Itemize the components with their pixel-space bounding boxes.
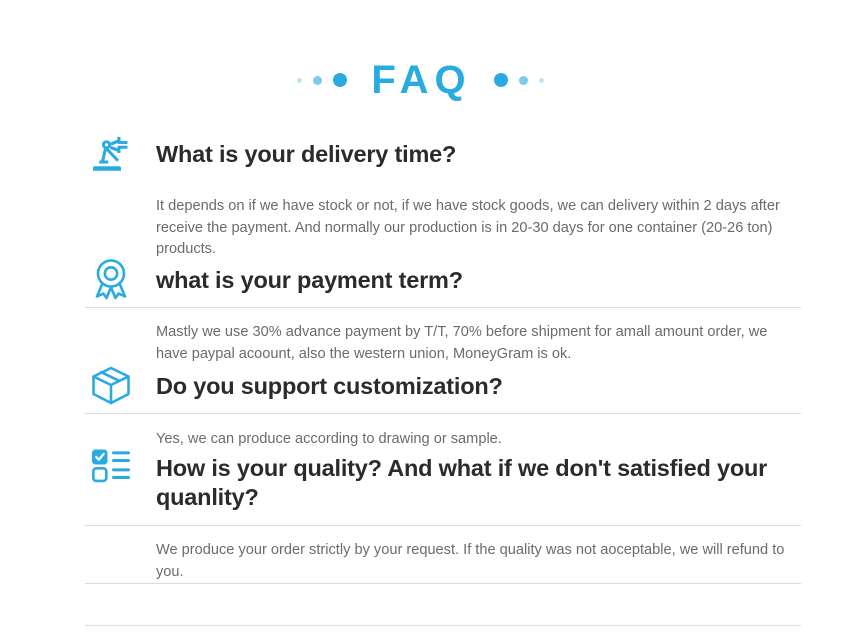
dot-small-icon (297, 78, 302, 83)
dot-large-icon (333, 73, 347, 87)
dot-medium-icon (519, 76, 528, 85)
faq-question[interactable]: What is your delivery time? (156, 140, 806, 169)
package-box-icon (88, 365, 134, 407)
faq-answer: We produce your order strictly by your r… (156, 540, 802, 583)
dot-large-icon (494, 73, 508, 87)
faq-divider (85, 307, 801, 308)
robot-arm-icon (88, 136, 134, 174)
award-ribbon-icon (88, 258, 134, 300)
header-dots-left (297, 73, 347, 87)
page-title: FAQ (347, 60, 493, 100)
faq-answer: Mastly we use 30% advance payment by T/T… (156, 322, 802, 365)
dot-medium-icon (313, 76, 322, 85)
faq-divider (85, 625, 801, 626)
faq-divider (85, 413, 801, 414)
faq-page: FAQ (0, 0, 841, 634)
dot-small-icon (539, 78, 544, 83)
checklist-icon (88, 447, 134, 485)
header-dots-right (494, 73, 544, 87)
faq-question[interactable]: what is your payment term? (156, 266, 806, 295)
faq-question[interactable]: Do you support customization? (156, 372, 806, 401)
faq-header: FAQ (0, 52, 841, 108)
faq-divider (85, 525, 801, 526)
faq-divider (85, 583, 801, 584)
faq-question[interactable]: How is your quality? And what if we don'… (156, 454, 806, 511)
faq-answer: Yes, we can produce according to drawing… (156, 429, 802, 451)
faq-answer: It depends on if we have stock or not, i… (156, 196, 802, 261)
